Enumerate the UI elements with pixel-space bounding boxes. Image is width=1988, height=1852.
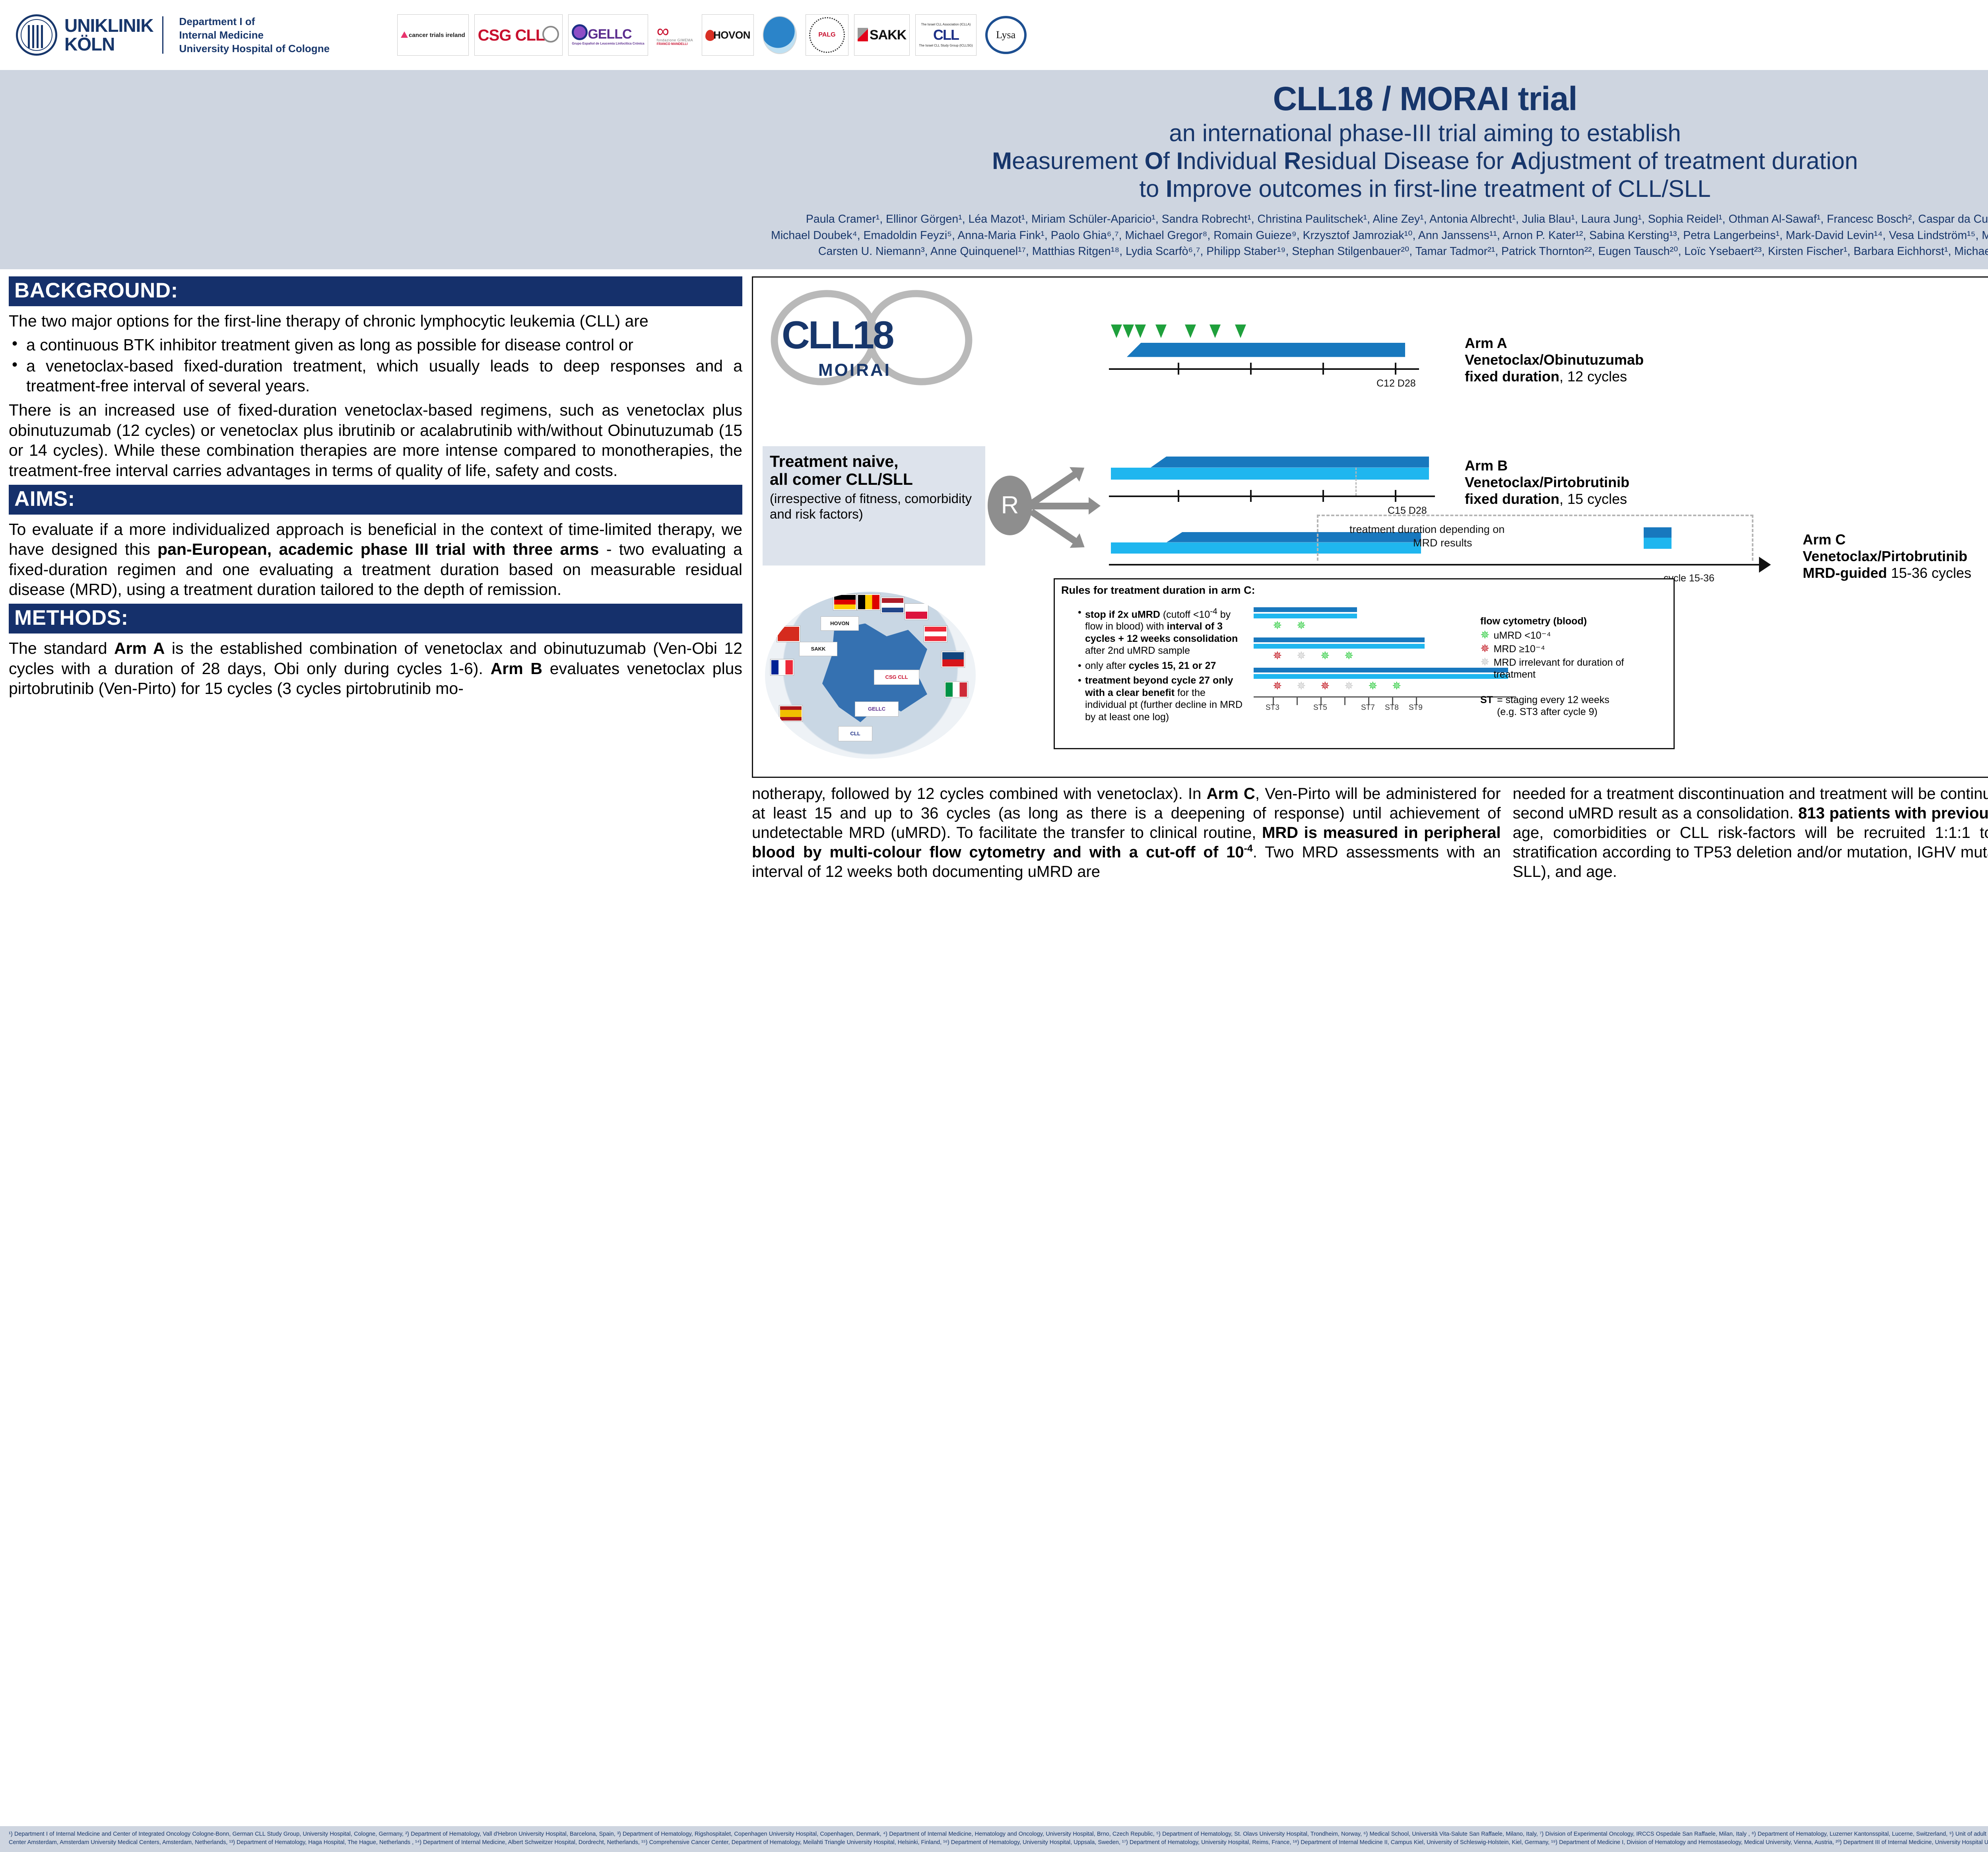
mid-text-left: notherapy, followed by 12 cycles combine… — [752, 784, 1501, 885]
cll18-logo-text: CLL18 — [782, 313, 893, 358]
arm-c-mrd-swatch-2 — [1644, 538, 1672, 549]
palg-label: PALG — [818, 31, 835, 39]
background-rest: There is an increased use of fixed-durat… — [9, 400, 742, 481]
flag-czech — [942, 651, 965, 667]
mrd-branch-box — [1317, 515, 1753, 561]
background-heading: BACKGROUND: — [9, 276, 742, 306]
arm-c-duration-bold: MRD-guided — [1803, 565, 1887, 581]
mrd-timeline-axis — [1254, 696, 1516, 698]
logo-palg: PALG — [806, 14, 848, 56]
arm-b-tick — [1250, 490, 1252, 502]
staging-key-line2: (e.g. ST3 after cycle 9) — [1497, 706, 1598, 717]
arm-b-name: Arm B — [1465, 457, 1508, 474]
arm-c-rules-box: Rules for treatment duration in arm C: s… — [1054, 578, 1675, 749]
obinutuzumab-dose-icon — [1155, 325, 1167, 338]
flag-spain — [779, 705, 802, 721]
cll18-logo-number: 18 — [853, 313, 893, 357]
gimema-knot-icon: ∞ — [657, 24, 693, 38]
arm-b-tick — [1178, 490, 1179, 502]
arm-a-duration-rest: , 12 cycles — [1559, 368, 1627, 385]
flow-legend-mrd: ✵MRD ≥10⁻⁴ — [1480, 643, 1667, 655]
flow-cytometry-legend: flow cytometry (blood) ✵uMRD <10⁻⁴ ✵MRD … — [1480, 615, 1667, 719]
background-intro: The two major options for the first-line… — [9, 311, 742, 331]
sakk-cross-icon — [858, 28, 868, 41]
poster-header: UNIKLINIK KÖLN Department I of Internal … — [0, 0, 1988, 70]
hovon-label: HOVON — [713, 29, 750, 41]
staging-key: ST = staging every 12 weeks(e.g. ST3 aft… — [1480, 694, 1667, 718]
logo-lysa: Lysa — [982, 14, 1030, 56]
israel-cll-bottom: The Israel CLL Study Group (ICLLSG) — [919, 44, 973, 47]
mrd-positive-star-icon: ✵ — [1320, 680, 1330, 692]
background-bullet-1: a continuous BTK inhibitor treatment giv… — [9, 335, 742, 355]
mid-text-right: needed for a treatment discontinuation a… — [1513, 784, 1988, 885]
university-name-line2: KÖLN — [64, 35, 153, 54]
eligibility-title-1: Treatment naive, — [770, 453, 978, 471]
rules-list: stop if 2x uMRD (cutoff <10-4 by flow in… — [1061, 606, 1248, 723]
eligibility-box: Treatment naive, all comer CLL/SLL (irre… — [763, 446, 985, 566]
staging-key-abbr: ST — [1480, 694, 1493, 706]
arm-b-tick — [1322, 490, 1324, 502]
cll18-logo-subtitle: MOIRAI — [818, 360, 891, 380]
arm-a-tick — [1178, 363, 1179, 375]
poster-subtitle-1: an international phase-III trial aiming … — [0, 119, 1988, 147]
rule-3: treatment beyond cycle 27 only with a cl… — [1077, 674, 1248, 723]
nordic-cll-circle-icon — [763, 16, 797, 54]
flag-switzerland — [777, 626, 800, 642]
arm-a-tick — [1322, 363, 1324, 375]
logo-csg-cll: CSG CLL — [474, 14, 563, 56]
csg-cll-label: CSG CLL — [478, 27, 545, 44]
israel-cll-label: CLL — [919, 26, 973, 43]
title-block: CLL18 / MORAI trial an international pha… — [0, 70, 1988, 269]
arm-b-duration-bold: fixed duration — [1465, 491, 1559, 507]
arm-c-axis — [1109, 564, 1761, 566]
gellc-label: GELLC — [588, 27, 631, 42]
author-line-3: Carsten U. Niemann³, Anne Quinquenel¹⁷, … — [24, 243, 1988, 259]
arm-b-tick — [1395, 490, 1396, 502]
figure-caption-columns: notherapy, followed by 12 cycles combine… — [752, 784, 1988, 885]
umrd-star-icon: ✵ — [1368, 680, 1377, 692]
logo-nordic-cll — [759, 14, 800, 56]
umrd-star-icon: ✵ — [1344, 650, 1353, 661]
arrow-to-arm-c — [1029, 509, 1077, 544]
mrd-irrelevant-star-icon: ✵ — [1480, 657, 1489, 668]
arm-c-regimen: Venetoclax/Pirtobrutinib — [1803, 548, 1967, 564]
logo-sakk: SAKK — [854, 14, 910, 56]
obinutuzumab-dose-icon — [1123, 325, 1134, 338]
arm-c-arrowhead — [1759, 557, 1771, 573]
mid-text-left-paragraph: notherapy, followed by 12 cycles combine… — [752, 784, 1501, 882]
rule-2: only after cycles 15, 21 or 27 — [1077, 660, 1248, 672]
arm-a-axis — [1109, 368, 1419, 370]
sakk-label: SAKK — [870, 27, 906, 43]
obinutuzumab-dose-icon — [1185, 325, 1196, 338]
author-line-1: Paula Cramer¹, Ellinor Görgen¹, Léa Mazo… — [24, 211, 1988, 227]
map-logo-hovon: HOVON — [821, 616, 859, 631]
arm-b-label: Arm B Venetoclax/Pirtobrutinib fixed dur… — [1465, 457, 1629, 507]
background-bullet-list: a continuous BTK inhibitor treatment giv… — [9, 335, 742, 396]
staging-tick-label: ST7 — [1361, 703, 1375, 712]
department-line2: Internal Medicine — [179, 28, 330, 42]
map-logo-sakk: SAKK — [799, 642, 837, 656]
arm-b-venetoclax-bar — [1151, 457, 1429, 468]
staging-tick-label: ST3 — [1266, 703, 1279, 712]
eligibility-title-2: all comer CLL/SLL — [770, 470, 978, 489]
arm-a-regimen: Venetoclax/Obinutuzumab — [1465, 352, 1644, 368]
mrd-irrelevant-star-icon: ✵ — [1297, 650, 1306, 661]
university-name-line1: UNIKLINIK — [64, 16, 153, 35]
staging-tick-label: ST9 — [1409, 703, 1423, 712]
arm-a-tick — [1395, 363, 1396, 375]
obinutuzumab-dose-icon — [1135, 325, 1146, 338]
aims-heading: AIMS: — [9, 485, 742, 515]
arm-b-axis — [1109, 496, 1435, 497]
logo-hovon: HOVON — [702, 14, 754, 56]
poster-title: CLL18 / MORAI trial — [0, 80, 1988, 117]
mrd-positive-star-icon: ✵ — [1273, 650, 1282, 661]
flag-poland — [905, 604, 928, 620]
flow-legend-label-mrd: MRD ≥10⁻⁴ — [1493, 643, 1545, 655]
arrow-to-arm-b — [1031, 503, 1090, 509]
eligibility-subtitle: (irrespective of fitness, comorbidity an… — [770, 491, 978, 522]
flag-netherlands — [881, 597, 904, 613]
israel-cll-top: The Israel CLL Association (ICLLA) — [921, 23, 971, 26]
gimema-label: fondazione GIMEMA — [657, 38, 693, 42]
csg-cll-ring-icon — [542, 26, 559, 43]
umrd-star-icon: ✵ — [1320, 650, 1330, 661]
staging-key-line1: = staging every 12 weeks — [1497, 694, 1609, 705]
aims-text-bold: pan-European, academic phase III trial w… — [157, 540, 599, 558]
methods-heading: METHODS: — [9, 604, 742, 634]
flag-belgium — [857, 594, 880, 610]
flag-germany — [833, 594, 856, 610]
rules-title: Rules for treatment duration in arm C: — [1061, 584, 1667, 597]
background-bullet-2: a venetoclax-based fixed-duration treatm… — [9, 356, 742, 396]
arm-c-duration-rest: 15-36 cycles — [1887, 565, 1971, 581]
partner-logo-strip: cancer trials ireland CSG CLL GELLC Grup… — [397, 14, 1030, 56]
arm-b-pirtobrutinib-bar — [1111, 468, 1429, 480]
cll18-logo-letters: CLL — [782, 313, 853, 357]
poster-subtitle-3: to Improve outcomes in first-line treatm… — [0, 175, 1988, 203]
mrd-branch-label-2: MRD results — [1413, 537, 1472, 549]
affiliations-footnote: ¹) Department I of Internal Medicine and… — [0, 1826, 1988, 1852]
flow-legend-irrelevant: ✵MRD irrelevant for duration of treatmen… — [1480, 657, 1667, 680]
arm-b-duration-rest: , 15 cycles — [1559, 491, 1627, 507]
flag-italy — [945, 682, 968, 698]
center-column: CLL18 MOIRAI Treatment naive, all comer … — [742, 276, 1988, 885]
arm-b-dashed-marker — [1355, 468, 1357, 496]
logo-fondazione-gimema: ∞ fondazione GIMEMA FRANCO MANDELLI — [654, 14, 697, 56]
author-list: Paula Cramer¹, Ellinor Görgen¹, Léa Mazo… — [0, 211, 1988, 259]
logo-gellc: GELLC Grupo Español de Leucemia Linfocít… — [568, 14, 648, 56]
map-logo-csg-cll: CSG CLL — [874, 670, 919, 685]
university-name: UNIKLINIK KÖLN — [64, 16, 163, 54]
umrd-star-icon: ✵ — [1392, 680, 1401, 692]
left-column: BACKGROUND: The two major options for th… — [9, 276, 742, 885]
obinutuzumab-dose-icon — [1235, 325, 1246, 338]
logo-israel-cll: The Israel CLL Association (ICLLA) CLL T… — [915, 14, 976, 56]
staging-tick-label: ST8 — [1385, 703, 1399, 712]
department-line1: Department I of — [179, 15, 330, 28]
methods-text: The standard Arm A is the established co… — [9, 638, 742, 699]
obinutuzumab-dose-icon — [1209, 325, 1221, 338]
europe-partner-map: HOVON SAKK CSG CLL GELLC CLL — [765, 592, 976, 759]
map-logo-cll: CLL — [838, 726, 872, 741]
arrow-to-arm-a — [1029, 471, 1077, 507]
flow-legend-label-irrelevant: MRD irrelevant for duration of treatment — [1493, 657, 1667, 680]
uniklinik-koeln-logo: UNIKLINIK KÖLN Department I of Internal … — [16, 14, 330, 56]
arm-a-tick — [1250, 363, 1252, 375]
mrd-positive-star-icon: ✵ — [1480, 643, 1489, 654]
flow-legend-umrd: ✵uMRD <10⁻⁴ — [1480, 630, 1667, 641]
arm-c-label: Arm C Venetoclax/Pirtobrutinib MRD-guide… — [1803, 531, 1971, 581]
gimema-sublabel: FRANCO MANDELLI — [657, 42, 693, 46]
aims-text: To evaluate if a more individualized app… — [9, 519, 742, 600]
flag-france — [771, 659, 794, 675]
umrd-star-icon: ✵ — [1480, 630, 1489, 641]
lysa-label: Lysa — [996, 29, 1015, 41]
mrd-irrelevant-star-icon: ✵ — [1344, 680, 1353, 692]
department-name: Department I of Internal Medicine Univer… — [171, 15, 330, 56]
logo-cancer-trials-ireland: cancer trials ireland — [397, 14, 469, 56]
mrd-positive-star-icon: ✵ — [1273, 680, 1282, 692]
flag-austria — [924, 626, 947, 642]
gellc-sublabel: Grupo Español de Leucemia Linfocítica Cr… — [572, 42, 644, 46]
author-line-2: Michael Doubek⁴, Emadoldin Feyzi⁵, Anna-… — [24, 227, 1988, 243]
mid-text-right-paragraph: needed for a treatment discontinuation a… — [1513, 784, 1988, 882]
map-logo-gellc: GELLC — [855, 702, 899, 717]
arm-b-regimen: Venetoclax/Pirtobrutinib — [1465, 474, 1629, 490]
umrd-star-icon: ✵ — [1273, 620, 1282, 631]
arm-a-venetoclax-bar — [1127, 343, 1405, 357]
university-seal-icon — [16, 14, 57, 56]
department-line3: University Hospital of Cologne — [179, 42, 330, 55]
poster-body: BACKGROUND: The two major options for th… — [0, 269, 1988, 885]
arm-a-axis-label: C12 D28 — [1376, 378, 1416, 389]
staging-key-text: = staging every 12 weeks(e.g. ST3 after … — [1497, 694, 1609, 718]
flow-cytometry-title: flow cytometry (blood) — [1480, 615, 1667, 627]
arm-a-duration-bold: fixed duration — [1465, 368, 1559, 385]
poster-subtitle-2: Measurement Of Individual Residual Disea… — [0, 147, 1988, 175]
mrd-branch-label-1: treatment duration depending on — [1349, 523, 1505, 536]
umrd-star-icon: ✵ — [1297, 620, 1306, 631]
flow-legend-label-umrd: uMRD <10⁻⁴ — [1493, 630, 1551, 641]
randomization-node: R — [988, 476, 1032, 535]
trial-design-figure: CLL18 MOIRAI Treatment naive, all comer … — [752, 276, 1988, 778]
arm-a-label: Arm A Venetoclax/Obinutuzumab fixed dura… — [1465, 335, 1644, 385]
arm-a-name: Arm A — [1465, 335, 1507, 351]
cll18-moirai-logo: CLL18 MOIRAI — [771, 288, 993, 403]
arm-c-name: Arm C — [1803, 531, 1846, 548]
cancer-trials-ireland-label: cancer trials ireland — [409, 32, 465, 39]
obinutuzumab-dose-icon — [1111, 325, 1122, 338]
gellc-circle-icon — [572, 24, 588, 40]
arm-c-mrd-swatch — [1644, 527, 1672, 538]
rule-1: stop if 2x uMRD (cutoff <10-4 by flow in… — [1077, 606, 1248, 657]
mrd-irrelevant-star-icon: ✵ — [1297, 680, 1306, 692]
staging-tick-label: ST5 — [1313, 703, 1327, 712]
